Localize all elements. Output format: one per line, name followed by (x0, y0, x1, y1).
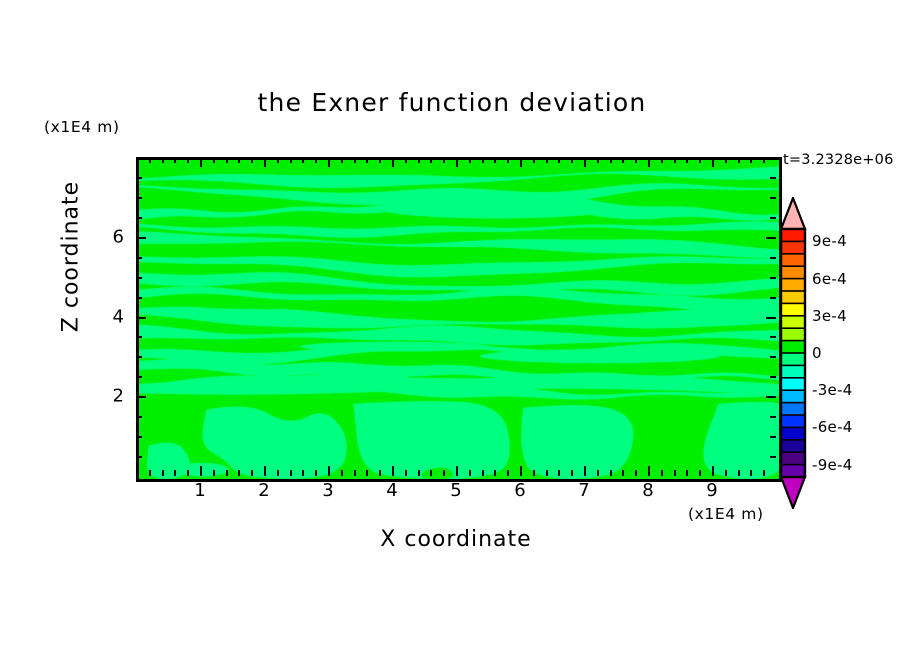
tick-y-minor-right (770, 277, 776, 279)
tick-x-major-bottom (648, 466, 650, 476)
colorbar-band (781, 365, 805, 378)
tick-x-minor-bottom (635, 470, 637, 476)
tick-x-minor-top (661, 157, 663, 163)
tick-x-minor-top (174, 157, 176, 163)
tick-x-minor-top (226, 157, 228, 163)
tick-x-minor-top (213, 157, 215, 163)
tick-x-minor-bottom (315, 470, 317, 476)
tick-y-minor-right (770, 336, 776, 338)
tick-x-minor-bottom (405, 470, 407, 476)
colorbar-tick-label: -3e-4 (812, 381, 853, 399)
tick-y-major-right (766, 237, 776, 239)
tick-x-minor-top (366, 157, 368, 163)
colorbar-band (781, 316, 805, 329)
tick-x-major-bottom (200, 466, 202, 476)
tick-y-minor-right (770, 217, 776, 219)
tick-x-minor-bottom (686, 470, 688, 476)
tick-x-minor-bottom (277, 470, 279, 476)
colorbar-band (781, 279, 805, 292)
colorbar-band (781, 452, 805, 465)
x-tick-label: 8 (642, 480, 653, 501)
tick-x-minor-bottom (418, 470, 420, 476)
tick-y-minor-left (136, 177, 142, 179)
colorbar-band (781, 415, 805, 428)
colorbar-svg (778, 197, 808, 509)
tick-x-major-top (712, 157, 714, 167)
tick-x-minor-bottom (354, 470, 356, 476)
page-title: the Exner function deviation (0, 88, 904, 117)
tick-x-minor-bottom (661, 470, 663, 476)
tick-x-minor-top (507, 157, 509, 163)
tick-x-minor-bottom (251, 470, 253, 476)
tick-x-minor-top (251, 157, 253, 163)
tick-x-minor-bottom (674, 470, 676, 476)
y-axis-title: Z coordinate (59, 157, 84, 357)
colorbar-band (781, 291, 805, 304)
tick-x-minor-bottom (226, 470, 228, 476)
tick-x-minor-top (622, 157, 624, 163)
tick-x-minor-top (763, 157, 765, 163)
colorbar-band (781, 241, 805, 254)
tick-x-minor-top (418, 157, 420, 163)
tick-x-minor-top (750, 157, 752, 163)
tick-y-minor-right (770, 456, 776, 458)
tick-x-major-bottom (264, 466, 266, 476)
tick-y-minor-right (770, 257, 776, 259)
colorbar-tick-label: 3e-4 (812, 307, 847, 325)
colorbar-tick-label: 6e-4 (812, 270, 847, 288)
tick-y-minor-left (136, 356, 142, 358)
tick-x-minor-top (610, 157, 612, 163)
tick-x-minor-bottom (750, 470, 752, 476)
colorbar-band (781, 440, 805, 453)
tick-x-minor-top (315, 157, 317, 163)
colorbar-band (781, 403, 805, 416)
tick-x-minor-top (354, 157, 356, 163)
tick-x-minor-top (187, 157, 189, 163)
tick-x-minor-bottom (507, 470, 509, 476)
colorbar-band (781, 341, 805, 354)
x-tick-label: 5 (450, 480, 461, 501)
x-tick-label: 1 (194, 480, 205, 501)
colorbar-band (781, 353, 805, 366)
tick-x-minor-bottom (610, 470, 612, 476)
tick-y-major-right (766, 317, 776, 319)
tick-x-major-bottom (520, 466, 522, 476)
tick-y-minor-left (136, 416, 142, 418)
colorbar-tick-label: -9e-4 (812, 456, 853, 474)
tick-x-minor-bottom (494, 470, 496, 476)
colorbar-band (781, 378, 805, 391)
tick-x-minor-top (482, 157, 484, 163)
tick-x-minor-top (162, 157, 164, 163)
tick-x-minor-top (558, 157, 560, 163)
colorbar-tick-label: 0 (812, 344, 822, 362)
tick-x-minor-top (469, 157, 471, 163)
x-tick-label: 9 (706, 480, 717, 501)
tick-x-minor-top (738, 157, 740, 163)
tick-y-major-right (766, 396, 776, 398)
tick-x-minor-top (725, 157, 727, 163)
tick-y-minor-left (136, 257, 142, 259)
tick-x-minor-bottom (366, 470, 368, 476)
tick-x-minor-top (290, 157, 292, 163)
tick-y-minor-left (136, 197, 142, 199)
tick-y-minor-left (136, 436, 142, 438)
y-tick-label: 6 (98, 226, 124, 247)
colorbar-band (781, 427, 805, 440)
tick-y-minor-left (136, 456, 142, 458)
tick-x-minor-bottom (546, 470, 548, 476)
tick-x-major-top (200, 157, 202, 167)
timestamp-label: t=3.2328e+06 (783, 152, 894, 168)
y-tick-label: 2 (98, 386, 124, 407)
tick-x-minor-bottom (763, 470, 765, 476)
tick-y-minor-right (770, 356, 776, 358)
colorbar (778, 197, 808, 509)
tick-x-minor-top (341, 157, 343, 163)
tick-x-minor-top (277, 157, 279, 163)
tick-x-minor-top (686, 157, 688, 163)
tick-x-minor-bottom (187, 470, 189, 476)
tick-x-major-top (392, 157, 394, 167)
tick-x-minor-bottom (533, 470, 535, 476)
colorbar-band (781, 303, 805, 316)
colorbar-band (781, 465, 805, 478)
tick-x-minor-bottom (571, 470, 573, 476)
tick-x-major-bottom (392, 466, 394, 476)
tick-x-minor-top (635, 157, 637, 163)
x-tick-label: 2 (258, 480, 269, 501)
tick-y-minor-right (770, 376, 776, 378)
tick-x-major-top (328, 157, 330, 167)
tick-x-major-top (520, 157, 522, 167)
tick-x-minor-top (546, 157, 548, 163)
tick-x-minor-top (430, 157, 432, 163)
tick-y-minor-left (136, 336, 142, 338)
x-tick-label: 6 (514, 480, 525, 501)
tick-x-minor-bottom (597, 470, 599, 476)
tick-y-minor-right (770, 297, 776, 299)
tick-y-major-left (136, 396, 146, 398)
y-tick-label: 4 (98, 306, 124, 327)
tick-x-minor-top (443, 157, 445, 163)
colorbar-under-range-arrow (781, 477, 805, 508)
colorbar-tick-label: 9e-4 (812, 232, 847, 250)
tick-x-minor-bottom (699, 470, 701, 476)
tick-x-major-top (264, 157, 266, 167)
tick-x-minor-bottom (341, 470, 343, 476)
colorbar-band (781, 390, 805, 403)
tick-x-minor-bottom (482, 470, 484, 476)
tick-y-minor-left (136, 217, 142, 219)
contour-field-canvas (139, 160, 779, 479)
tick-x-major-top (648, 157, 650, 167)
tick-x-major-bottom (328, 466, 330, 476)
colorbar-band (781, 266, 805, 279)
tick-x-minor-top (405, 157, 407, 163)
tick-y-minor-right (770, 197, 776, 199)
contour-plot-area (136, 157, 782, 482)
tick-x-minor-bottom (162, 470, 164, 476)
colorbar-tick-label: -6e-4 (812, 418, 853, 436)
x-tick-label: 4 (386, 480, 397, 501)
tick-x-major-bottom (712, 466, 714, 476)
tick-y-minor-left (136, 277, 142, 279)
tick-x-minor-bottom (725, 470, 727, 476)
tick-x-minor-top (674, 157, 676, 163)
tick-x-minor-bottom (290, 470, 292, 476)
x-axis-unit-label: (x1E4 m) (688, 505, 764, 523)
tick-x-minor-bottom (174, 470, 176, 476)
tick-x-minor-bottom (213, 470, 215, 476)
tick-x-minor-bottom (558, 470, 560, 476)
tick-x-minor-top (571, 157, 573, 163)
tick-x-minor-top (149, 157, 151, 163)
tick-x-minor-bottom (738, 470, 740, 476)
tick-x-minor-bottom (622, 470, 624, 476)
tick-y-minor-left (136, 297, 142, 299)
tick-x-major-top (456, 157, 458, 167)
tick-y-minor-right (770, 436, 776, 438)
tick-x-minor-bottom (379, 470, 381, 476)
colorbar-band (781, 229, 805, 242)
tick-x-minor-bottom (443, 470, 445, 476)
x-axis-title: X coordinate (136, 527, 776, 552)
tick-y-minor-right (770, 416, 776, 418)
tick-x-minor-top (238, 157, 240, 163)
tick-x-major-top (584, 157, 586, 167)
tick-y-major-left (136, 317, 146, 319)
x-tick-label: 7 (578, 480, 589, 501)
tick-x-minor-top (597, 157, 599, 163)
z-axis-unit-label: (x1E4 m) (44, 118, 120, 136)
tick-x-minor-bottom (469, 470, 471, 476)
tick-x-major-bottom (456, 466, 458, 476)
x-tick-label: 3 (322, 480, 333, 501)
tick-x-minor-top (302, 157, 304, 163)
tick-x-minor-bottom (238, 470, 240, 476)
tick-x-major-bottom (584, 466, 586, 476)
colorbar-over-range-arrow (781, 198, 805, 229)
colorbar-band (781, 254, 805, 267)
tick-x-minor-top (699, 157, 701, 163)
colorbar-band (781, 328, 805, 341)
tick-y-major-left (136, 237, 146, 239)
tick-x-minor-bottom (149, 470, 151, 476)
tick-x-minor-top (533, 157, 535, 163)
tick-y-minor-left (136, 376, 142, 378)
tick-x-minor-bottom (302, 470, 304, 476)
tick-x-minor-bottom (430, 470, 432, 476)
tick-x-minor-top (494, 157, 496, 163)
tick-x-minor-top (379, 157, 381, 163)
tick-y-minor-right (770, 177, 776, 179)
